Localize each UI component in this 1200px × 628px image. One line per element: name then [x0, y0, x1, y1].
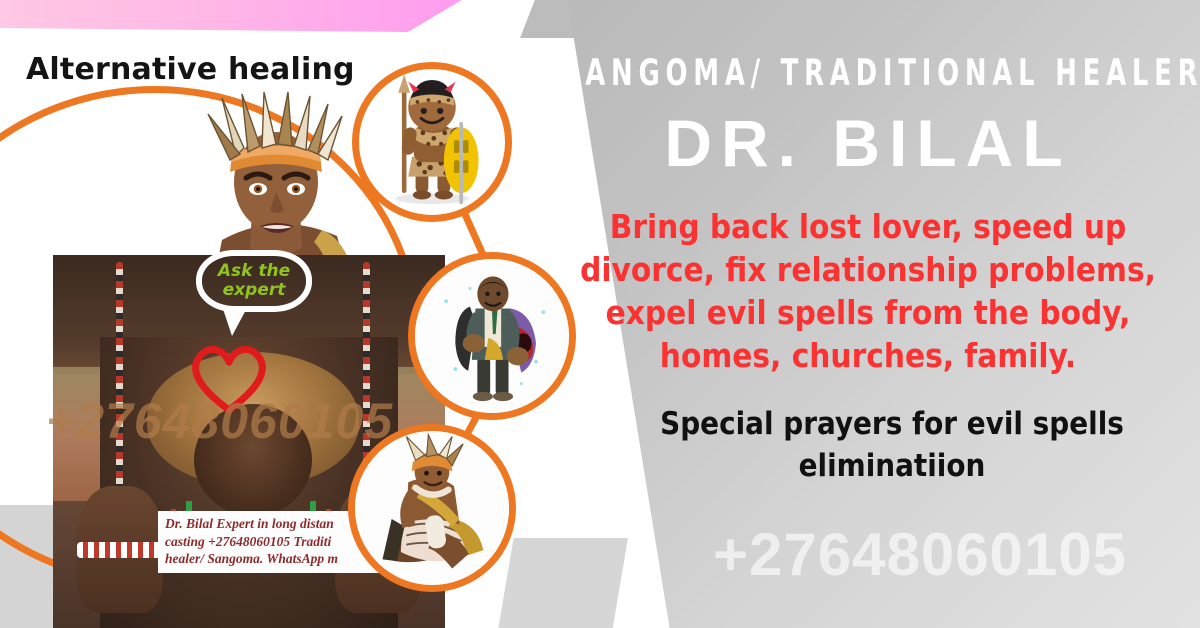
services-description: Bring back lost lover, speed up divorce,… — [548, 206, 1188, 378]
pink-accent-bar — [0, 0, 465, 32]
photo-face — [194, 404, 312, 516]
special-prayers-text: Special prayers for evil spells eliminat… — [596, 404, 1188, 488]
healer-name: DR. BILAL — [548, 109, 1188, 178]
grey-foot-shape — [498, 538, 628, 628]
photo-wristband-left — [77, 542, 163, 558]
page-title: Alternative healing — [26, 52, 355, 87]
kneeling-zulu-dancer-illustration — [348, 424, 516, 592]
caption-line-3: healer/ Sangoma. WhatsApp m — [165, 550, 384, 568]
speech-bubble-text: Ask the expert — [202, 262, 306, 300]
zulu-warrior-illustration — [352, 62, 512, 222]
right-text-column: SANGOMA/ TRADITIONAL HEALER DR. BILAL Br… — [548, 52, 1188, 488]
kicker-headline: SANGOMA/ TRADITIONAL HEALER — [561, 52, 1175, 95]
speech-bubble: Ask the expert — [196, 250, 312, 312]
caption-line-2: casting +27648060105 Traditi — [165, 533, 384, 551]
heart-icon — [186, 336, 272, 414]
poster-canvas: Alternative healing — [0, 0, 1200, 628]
